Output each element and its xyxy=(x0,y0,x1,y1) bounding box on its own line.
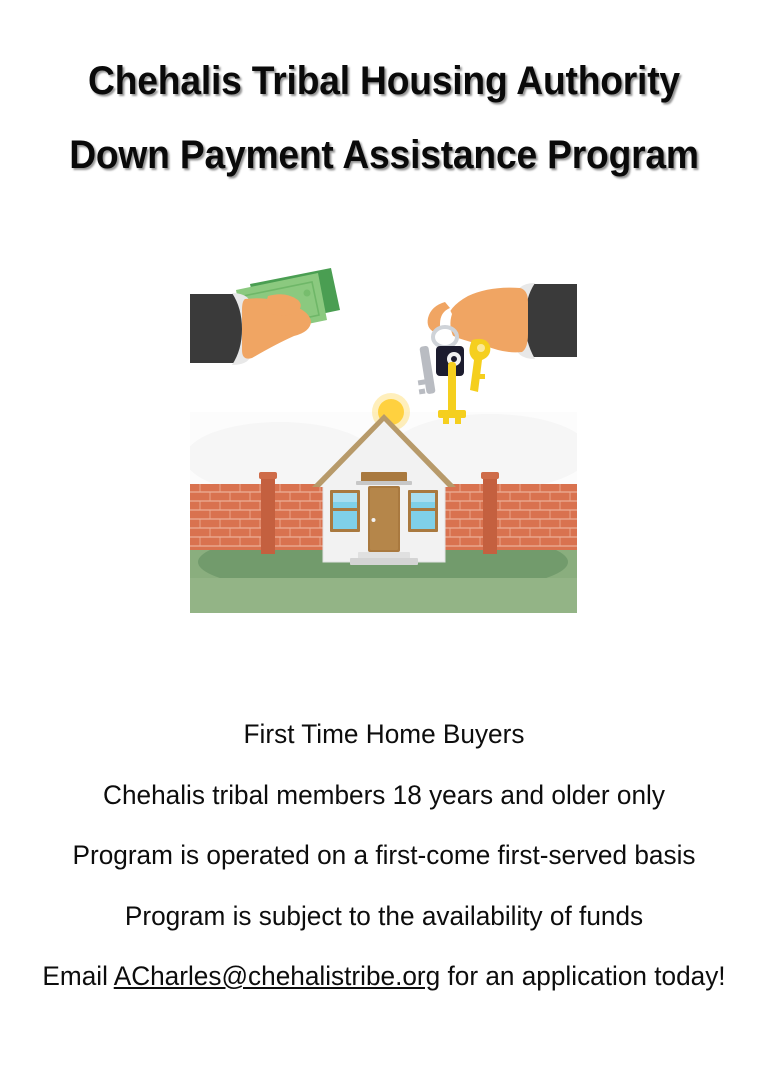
awning-lip xyxy=(356,481,412,485)
door-knob xyxy=(372,518,376,522)
illustration-svg xyxy=(190,262,577,613)
poster-body: First Time Home Buyers Chehalis tribal m… xyxy=(0,704,768,1007)
body-line-email: Email ACharles@chehalistribe.org for an … xyxy=(12,946,757,1007)
window-right xyxy=(408,490,438,532)
title-line-1: Chehalis Tribal Housing Authority xyxy=(27,44,741,118)
sleeve-left xyxy=(190,294,242,363)
fence-post-left xyxy=(259,472,277,554)
banknote-seal xyxy=(304,290,311,297)
body-line-4: Program is subject to the availability o… xyxy=(12,886,757,947)
lawn-foreground xyxy=(190,578,577,613)
poster-title: Chehalis Tribal Housing Authority Down P… xyxy=(0,44,768,192)
step-lower xyxy=(350,558,418,565)
window-left xyxy=(330,490,360,532)
sleeve-right xyxy=(525,284,577,357)
body-line-1: First Time Home Buyers xyxy=(12,704,757,765)
fence-post-right xyxy=(481,472,499,554)
body-line-2: Chehalis tribal members 18 years and old… xyxy=(12,765,757,826)
email-prefix-text: Email xyxy=(42,961,113,991)
email-suffix-text: for an application today! xyxy=(440,961,725,991)
title-line-2: Down Payment Assistance Program xyxy=(27,118,741,192)
email-link[interactable]: ACharles@chehalistribe.org xyxy=(114,961,440,991)
housing-illustration xyxy=(190,262,577,613)
body-line-3: Program is operated on a first-come firs… xyxy=(12,825,757,886)
step-upper xyxy=(358,552,410,559)
